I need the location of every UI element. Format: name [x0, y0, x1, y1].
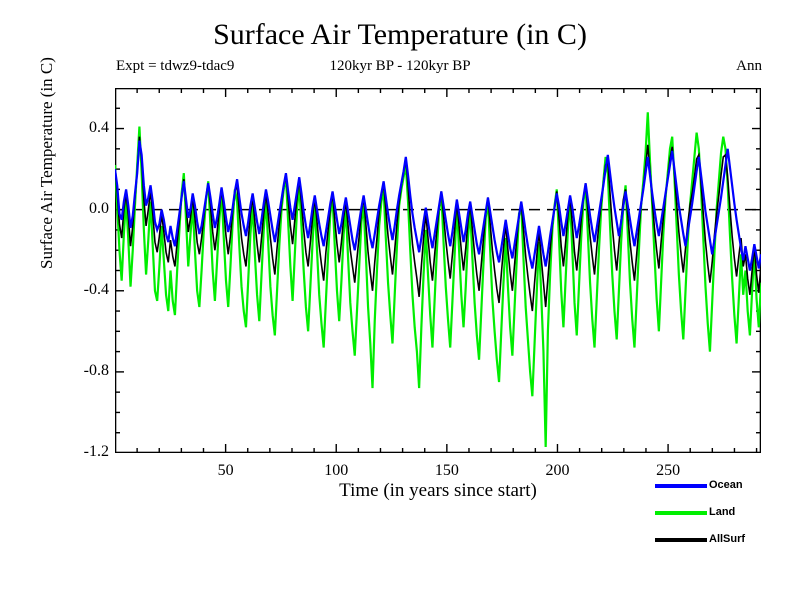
- legend-label: AllSurf: [709, 532, 745, 546]
- legend-color-swatch: [655, 484, 707, 488]
- data-series-group: [115, 112, 761, 447]
- y-tick-label: 0.4: [63, 119, 109, 137]
- series-line-land: [115, 112, 761, 447]
- x-tick-label: 50: [196, 462, 256, 480]
- x-tick-label: 150: [417, 462, 477, 480]
- plot-area: [115, 88, 761, 453]
- legend-label: Ocean: [709, 478, 743, 492]
- annual-mean-label: Ann: [736, 58, 762, 75]
- x-tick-label: 100: [306, 462, 366, 480]
- legend-color-swatch: [655, 511, 707, 515]
- legend-label: Land: [709, 505, 735, 519]
- legend-color-swatch: [655, 538, 707, 542]
- period-label: 120kyr BP - 120kyr BP: [0, 58, 800, 75]
- y-axis-label-wrapper: Surface Air Temperature (in C): [37, 0, 63, 333]
- x-tick-label: 200: [527, 462, 587, 480]
- page-title: Surface Air Temperature (in C): [0, 18, 800, 52]
- y-tick-label: 0.0: [63, 200, 109, 218]
- y-tick-label: -0.4: [63, 281, 109, 299]
- y-tick-label: -1.2: [63, 443, 109, 461]
- figure-canvas: Surface Air Temperature (in C) Expt = td…: [0, 0, 800, 600]
- y-axis-label: Surface Air Temperature (in C): [37, 0, 57, 333]
- y-tick-label: -0.8: [63, 362, 109, 380]
- chart-legend: OceanLandAllSurf: [655, 478, 800, 563]
